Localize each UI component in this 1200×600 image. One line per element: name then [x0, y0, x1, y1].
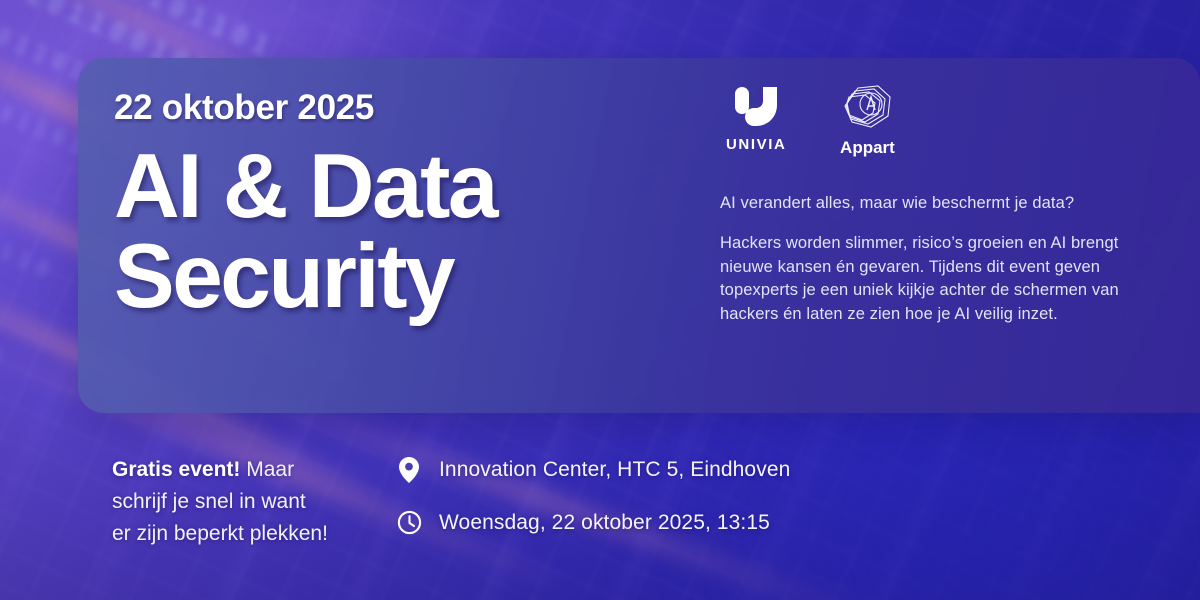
u-mark-icon [729, 82, 783, 132]
signup-note: Gratis event! Maar schrijf je snel in wa… [0, 430, 330, 550]
logo-row: UNIVIA Appart [720, 82, 1140, 158]
event-title-line-2: Security [114, 226, 453, 327]
event-title-line-1: AI & Data [114, 136, 496, 237]
clock-icon [396, 510, 422, 535]
description-paragraph-2: Hackers worden slimmer, risico’s groeien… [720, 232, 1140, 326]
page-title: AI & Data Security [114, 142, 698, 322]
detail-row-datetime: Woensdag, 22 oktober 2025, 13:15 [396, 510, 790, 535]
univia-logo[interactable]: UNIVIA [726, 82, 786, 153]
event-description: AI verandert alles, maar wie beschermt j… [720, 192, 1140, 326]
description-paragraph-1: AI verandert alles, maar wie beschermt j… [720, 192, 1140, 215]
location-text: Innovation Center, HTC 5, Eindhoven [439, 458, 790, 482]
event-date: 22 oktober 2025 [114, 88, 698, 128]
footer: Gratis event! Maar schrijf je snel in wa… [0, 430, 1200, 600]
datetime-text: Woensdag, 22 oktober 2025, 13:15 [439, 511, 770, 535]
hero-left-column: 22 oktober 2025 AI & Data Security [78, 58, 698, 413]
event-details: Innovation Center, HTC 5, Eindhoven Woen… [330, 430, 790, 535]
signup-highlight: Gratis event! [112, 458, 240, 481]
hero-right-column: UNIVIA Appart [698, 58, 1200, 413]
appart-wordmark: Appart [840, 138, 895, 158]
hero-card: 22 oktober 2025 AI & Data Security UNIVI… [78, 58, 1200, 413]
a-polygon-mark-icon [838, 82, 896, 132]
location-pin-icon [396, 456, 422, 484]
detail-row-location: Innovation Center, HTC 5, Eindhoven [396, 456, 790, 484]
univia-wordmark: UNIVIA [726, 136, 786, 153]
appart-logo[interactable]: Appart [838, 82, 896, 158]
